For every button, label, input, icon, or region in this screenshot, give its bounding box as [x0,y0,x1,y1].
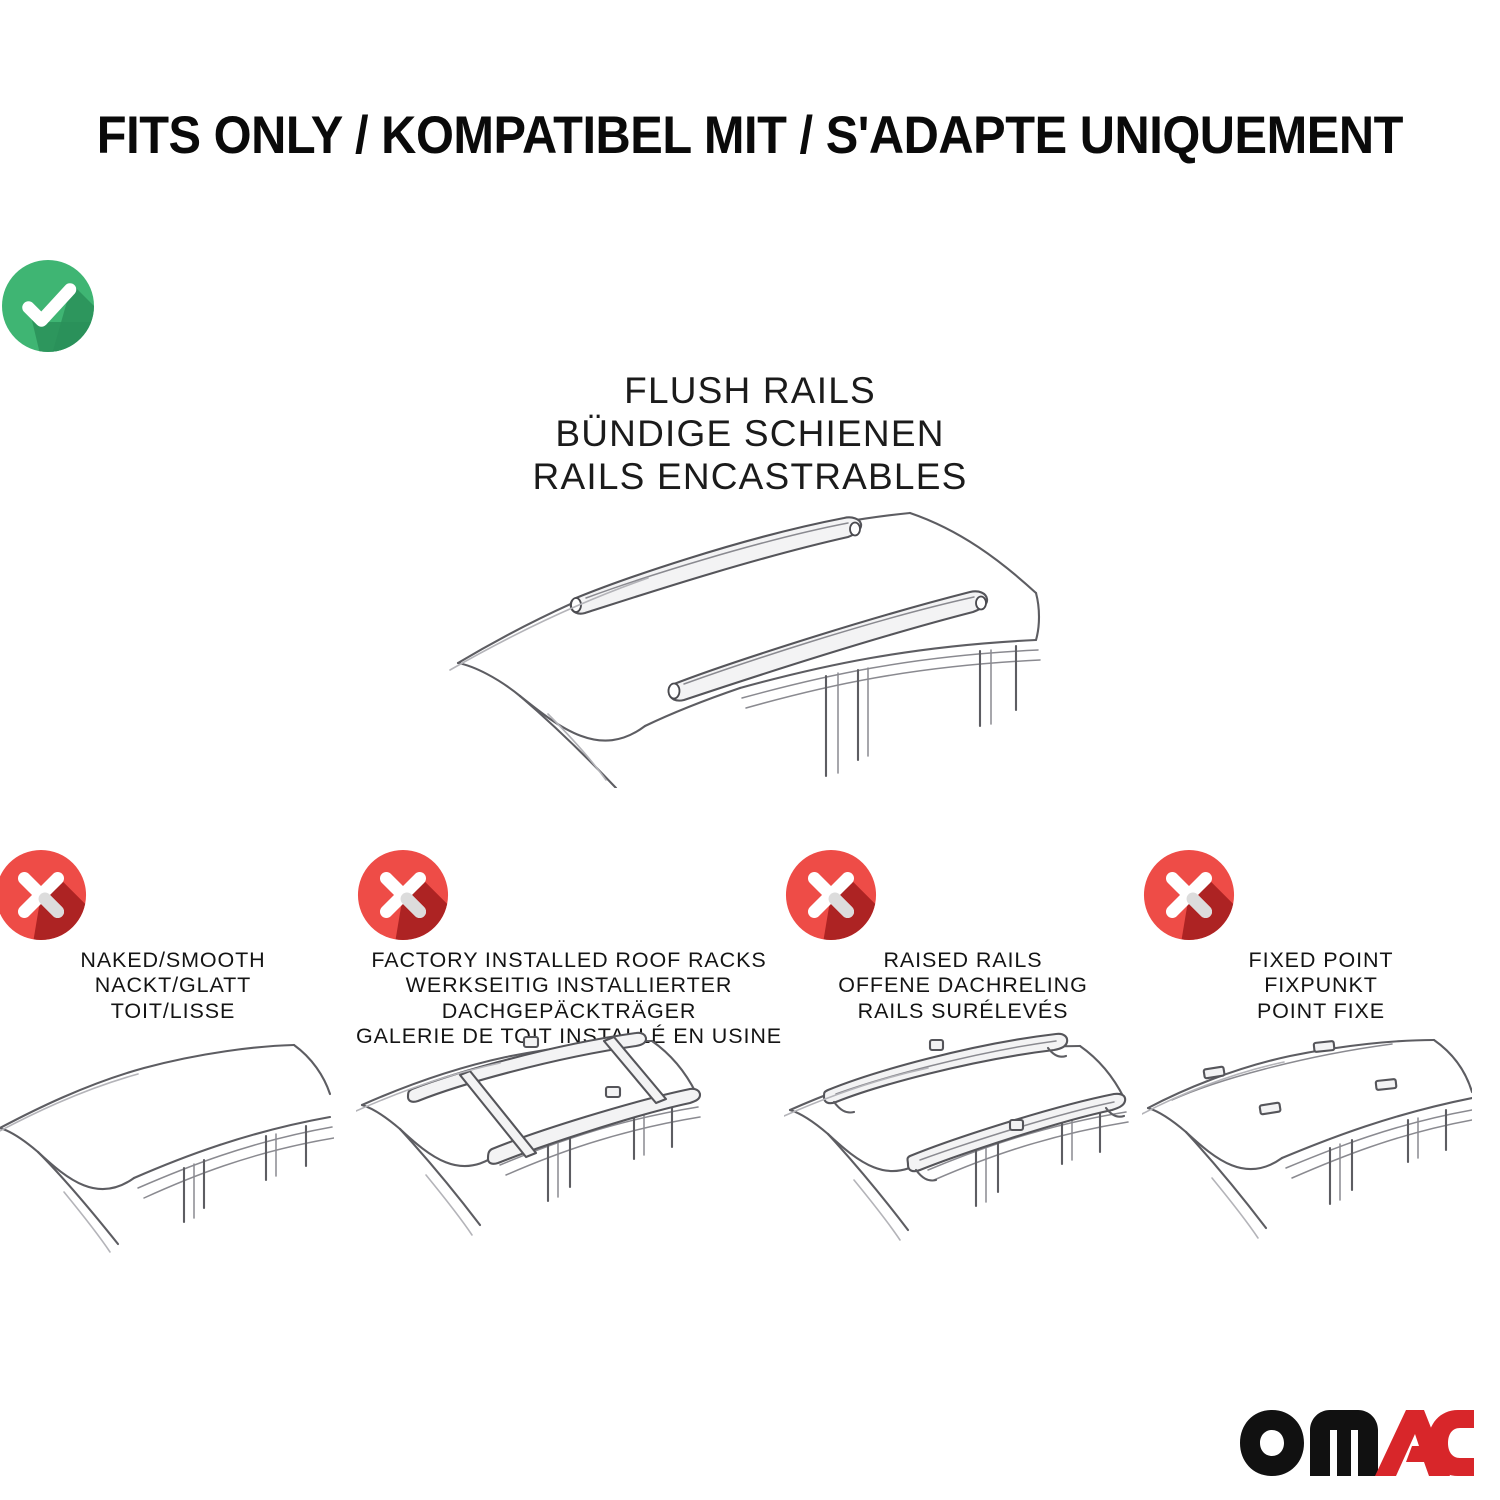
car-roof-raised-rails-icon [784,1032,1142,1262]
incompatible-labels: RAISED RAILS OFFENE DACHRELING RAILS SUR… [784,948,1142,1024]
incompatible-item-fixed-point: FIXED POINT FIXPUNKT POINT FIXE [1142,848,1500,1262]
incompatible-section: NAKED/SMOOTH NACKT/GLATT TOIT/LISSE [0,848,1500,1262]
car-roof-flush-rails-icon [440,488,1060,788]
compatible-labels: FLUSH RAILS BÜNDIGE SCHIENEN RAILS ENCAS… [0,370,1500,499]
label-line-2: WERKSEITIG INSTALLIERTER [356,973,782,998]
omac-logo [1238,1408,1476,1478]
red-x-circle-icon [1142,848,1500,942]
incompatible-item-factory-racks: FACTORY INSTALLED ROOF RACKS WERKSEITIG … [356,848,782,1261]
page-title: FITS ONLY / KOMPATIBEL MIT / S'ADAPTE UN… [0,108,1500,164]
label-line-2: NACKT/GLATT [0,973,352,998]
red-x-circle-icon [784,848,1142,942]
label-line-3: RAILS SURÉLEVÉS [784,999,1142,1024]
incompatible-labels: NAKED/SMOOTH NACKT/GLATT TOIT/LISSE [0,948,352,1024]
compatible-label-de: BÜNDIGE SCHIENEN [0,413,1500,456]
label-line-2: FIXPUNKT [1142,973,1500,998]
green-check-circle-icon [0,258,1500,354]
car-roof-factory-racks-icon [356,1031,782,1261]
incompatible-labels: FACTORY INSTALLED ROOF RACKS WERKSEITIG … [356,948,782,1049]
label-line-2: OFFENE DACHRELING [784,973,1142,998]
compatible-section: FLUSH RAILS BÜNDIGE SCHIENEN RAILS ENCAS… [0,258,1500,499]
incompatible-item-naked-smooth: NAKED/SMOOTH NACKT/GLATT TOIT/LISSE [0,848,352,1262]
label-line-3: POINT FIXE [1142,999,1500,1024]
label-line-1: FIXED POINT [1142,948,1500,973]
label-line-1: RAISED RAILS [784,948,1142,973]
incompatible-item-raised-rails: RAISED RAILS OFFENE DACHRELING RAILS SUR… [784,848,1142,1262]
car-roof-fixed-point-icon [1142,1032,1500,1262]
label-line-1: NAKED/SMOOTH [0,948,352,973]
label-line-3: TOIT/LISSE [0,999,352,1024]
label-line-1: FACTORY INSTALLED ROOF RACKS [356,948,782,973]
red-x-circle-icon [0,848,352,942]
compatible-label-en: FLUSH RAILS [0,370,1500,413]
page-title-text: FITS ONLY / KOMPATIBEL MIT / S'ADAPTE UN… [97,108,1403,164]
omac-letter-m [1310,1410,1378,1476]
red-x-circle-icon [356,848,782,942]
omac-letter-o [1240,1410,1304,1476]
car-roof-naked-icon [0,1032,352,1262]
incompatible-labels: FIXED POINT FIXPUNKT POINT FIXE [1142,948,1500,1024]
label-line-3: DACHGEPÄCKTRÄGER [356,999,782,1024]
